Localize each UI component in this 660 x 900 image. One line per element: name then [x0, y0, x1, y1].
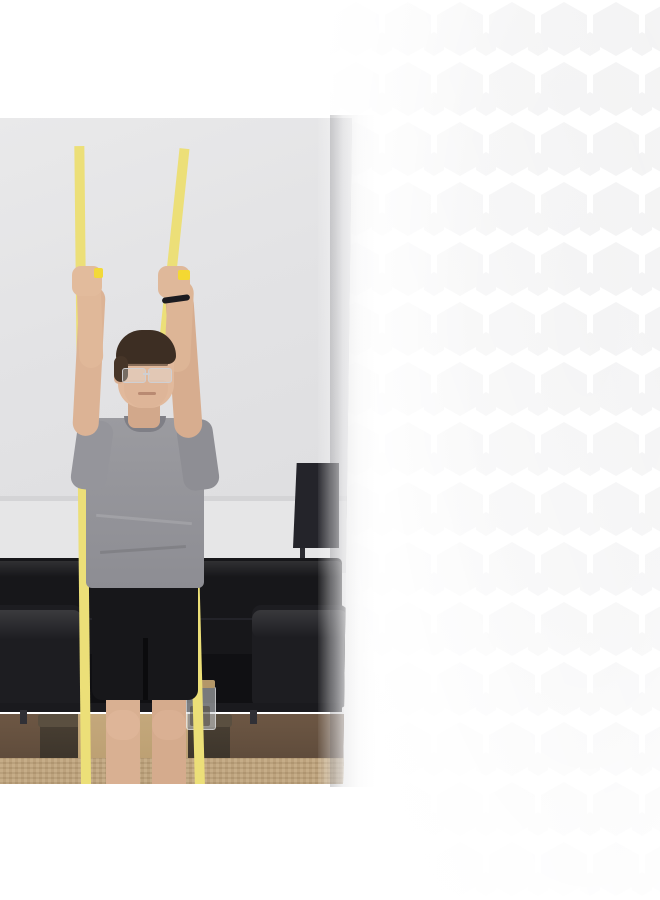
product-info-graphic: LEVEL 1-YELLOW 100% Stretch 3 lbs 200% S… [0, 0, 660, 900]
hexagon-pattern-background [330, 0, 660, 900]
eyebrows [126, 363, 168, 366]
sofa-leg-left [20, 710, 27, 724]
sofa-arm-left-highlight [0, 610, 82, 640]
band-grip-left [94, 268, 103, 278]
product-photo [0, 118, 352, 784]
info-panel: LEVEL 1-YELLOW 100% Stretch 3 lbs 200% S… [330, 0, 660, 900]
band-grip-right [178, 270, 190, 280]
knee-left [106, 710, 140, 740]
safety-glasses-bridge [143, 373, 150, 375]
knee-right [152, 710, 186, 740]
shorts-center-seam [143, 638, 148, 700]
safety-glasses-right-lens [148, 368, 172, 383]
hexagon-pattern-svg [330, 0, 660, 900]
safety-glasses-left-lens [122, 368, 146, 383]
sofa-leg-right [250, 710, 257, 724]
mouth [138, 392, 156, 395]
